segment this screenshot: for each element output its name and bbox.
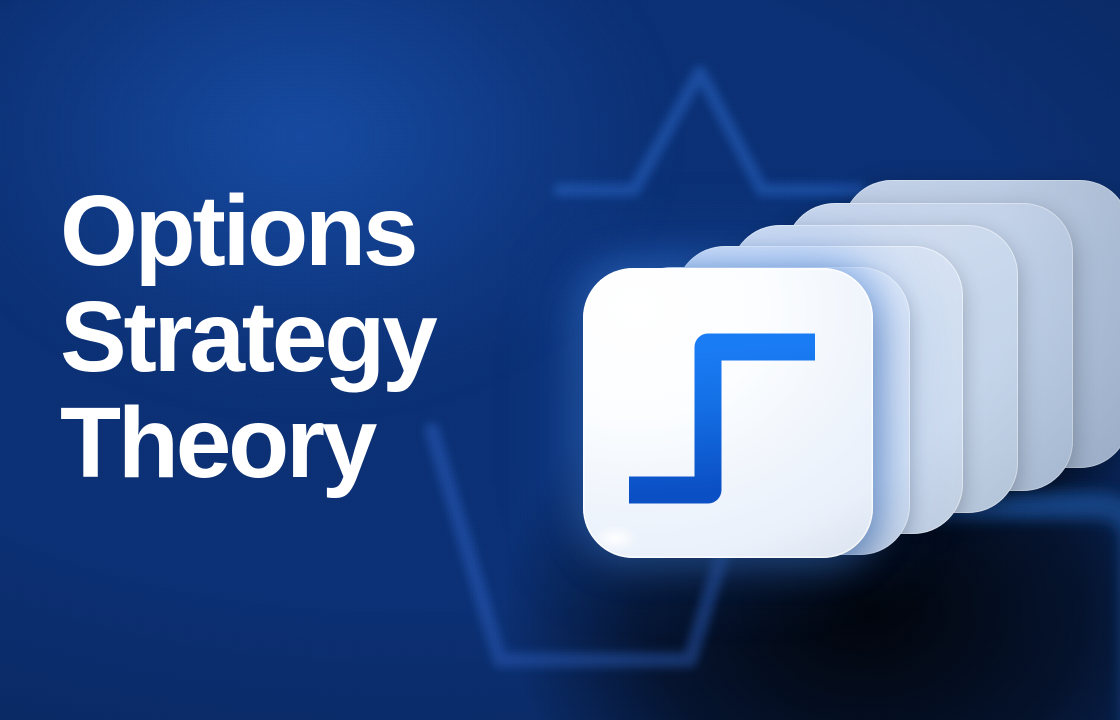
page-title-line-1: Options bbox=[60, 178, 530, 284]
page-title-line-3: Theory bbox=[60, 390, 530, 496]
page-title-line-2: Strategy bbox=[60, 284, 530, 390]
stack-card-front bbox=[583, 268, 873, 558]
page-title: Options Strategy Theory bbox=[60, 178, 530, 496]
step-function-payoff-icon bbox=[583, 268, 873, 558]
hero-banner: Options Strategy Theory bbox=[0, 0, 1120, 720]
card-stack-icon bbox=[570, 165, 1090, 585]
